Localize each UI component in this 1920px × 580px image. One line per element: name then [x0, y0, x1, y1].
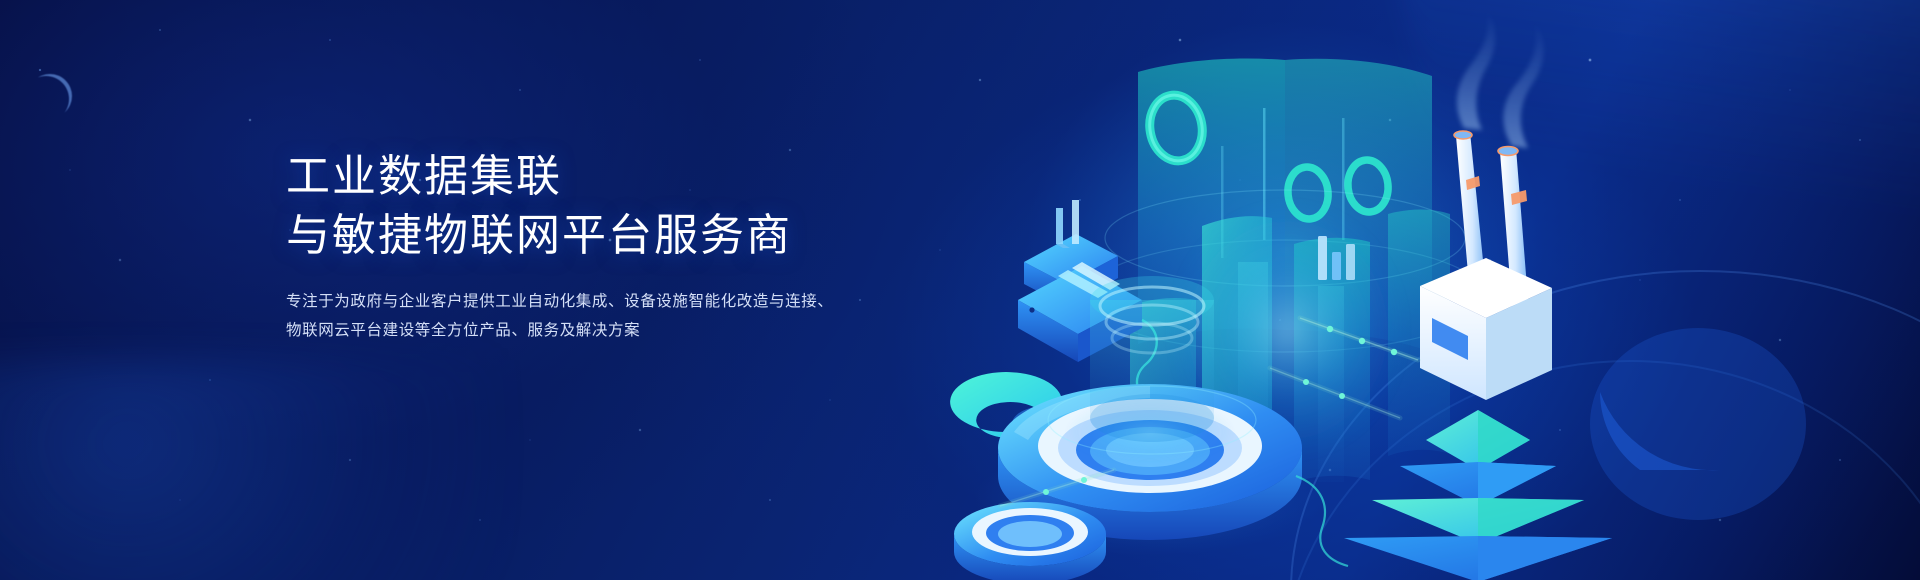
subtitle-line-2: 物联网云平台建设等全方位产品、服务及解决方案 — [286, 317, 926, 346]
router-device — [1018, 262, 1142, 362]
subtitle-line-1: 专注于为政府与企业客户提供工业自动化集成、设备设施智能化改造与连接、 — [286, 288, 926, 317]
router-device-left — [1024, 200, 1118, 306]
headline-line-1: 工业数据集联 — [286, 148, 926, 207]
donut-chart — [950, 372, 1104, 476]
hologram-column — [1048, 276, 1256, 454]
hero-banner: 工业数据集联 与敏捷物联网平台服务商 专注于为政府与企业客户提供工业自动化集成、… — [0, 0, 1920, 580]
crescent-moon-icon — [28, 74, 72, 118]
central-platform-disc — [974, 384, 1326, 556]
headline-line-2: 与敏捷物联网平台服务商 — [286, 207, 926, 266]
circular-base-pad — [954, 502, 1106, 580]
bottom-left-glow — [0, 360, 500, 580]
hero-copy: 工业数据集联 与敏捷物联网平台服务商 专注于为政府与企业客户提供工业自动化集成、… — [286, 148, 926, 345]
bar-chart-block — [1318, 236, 1355, 280]
